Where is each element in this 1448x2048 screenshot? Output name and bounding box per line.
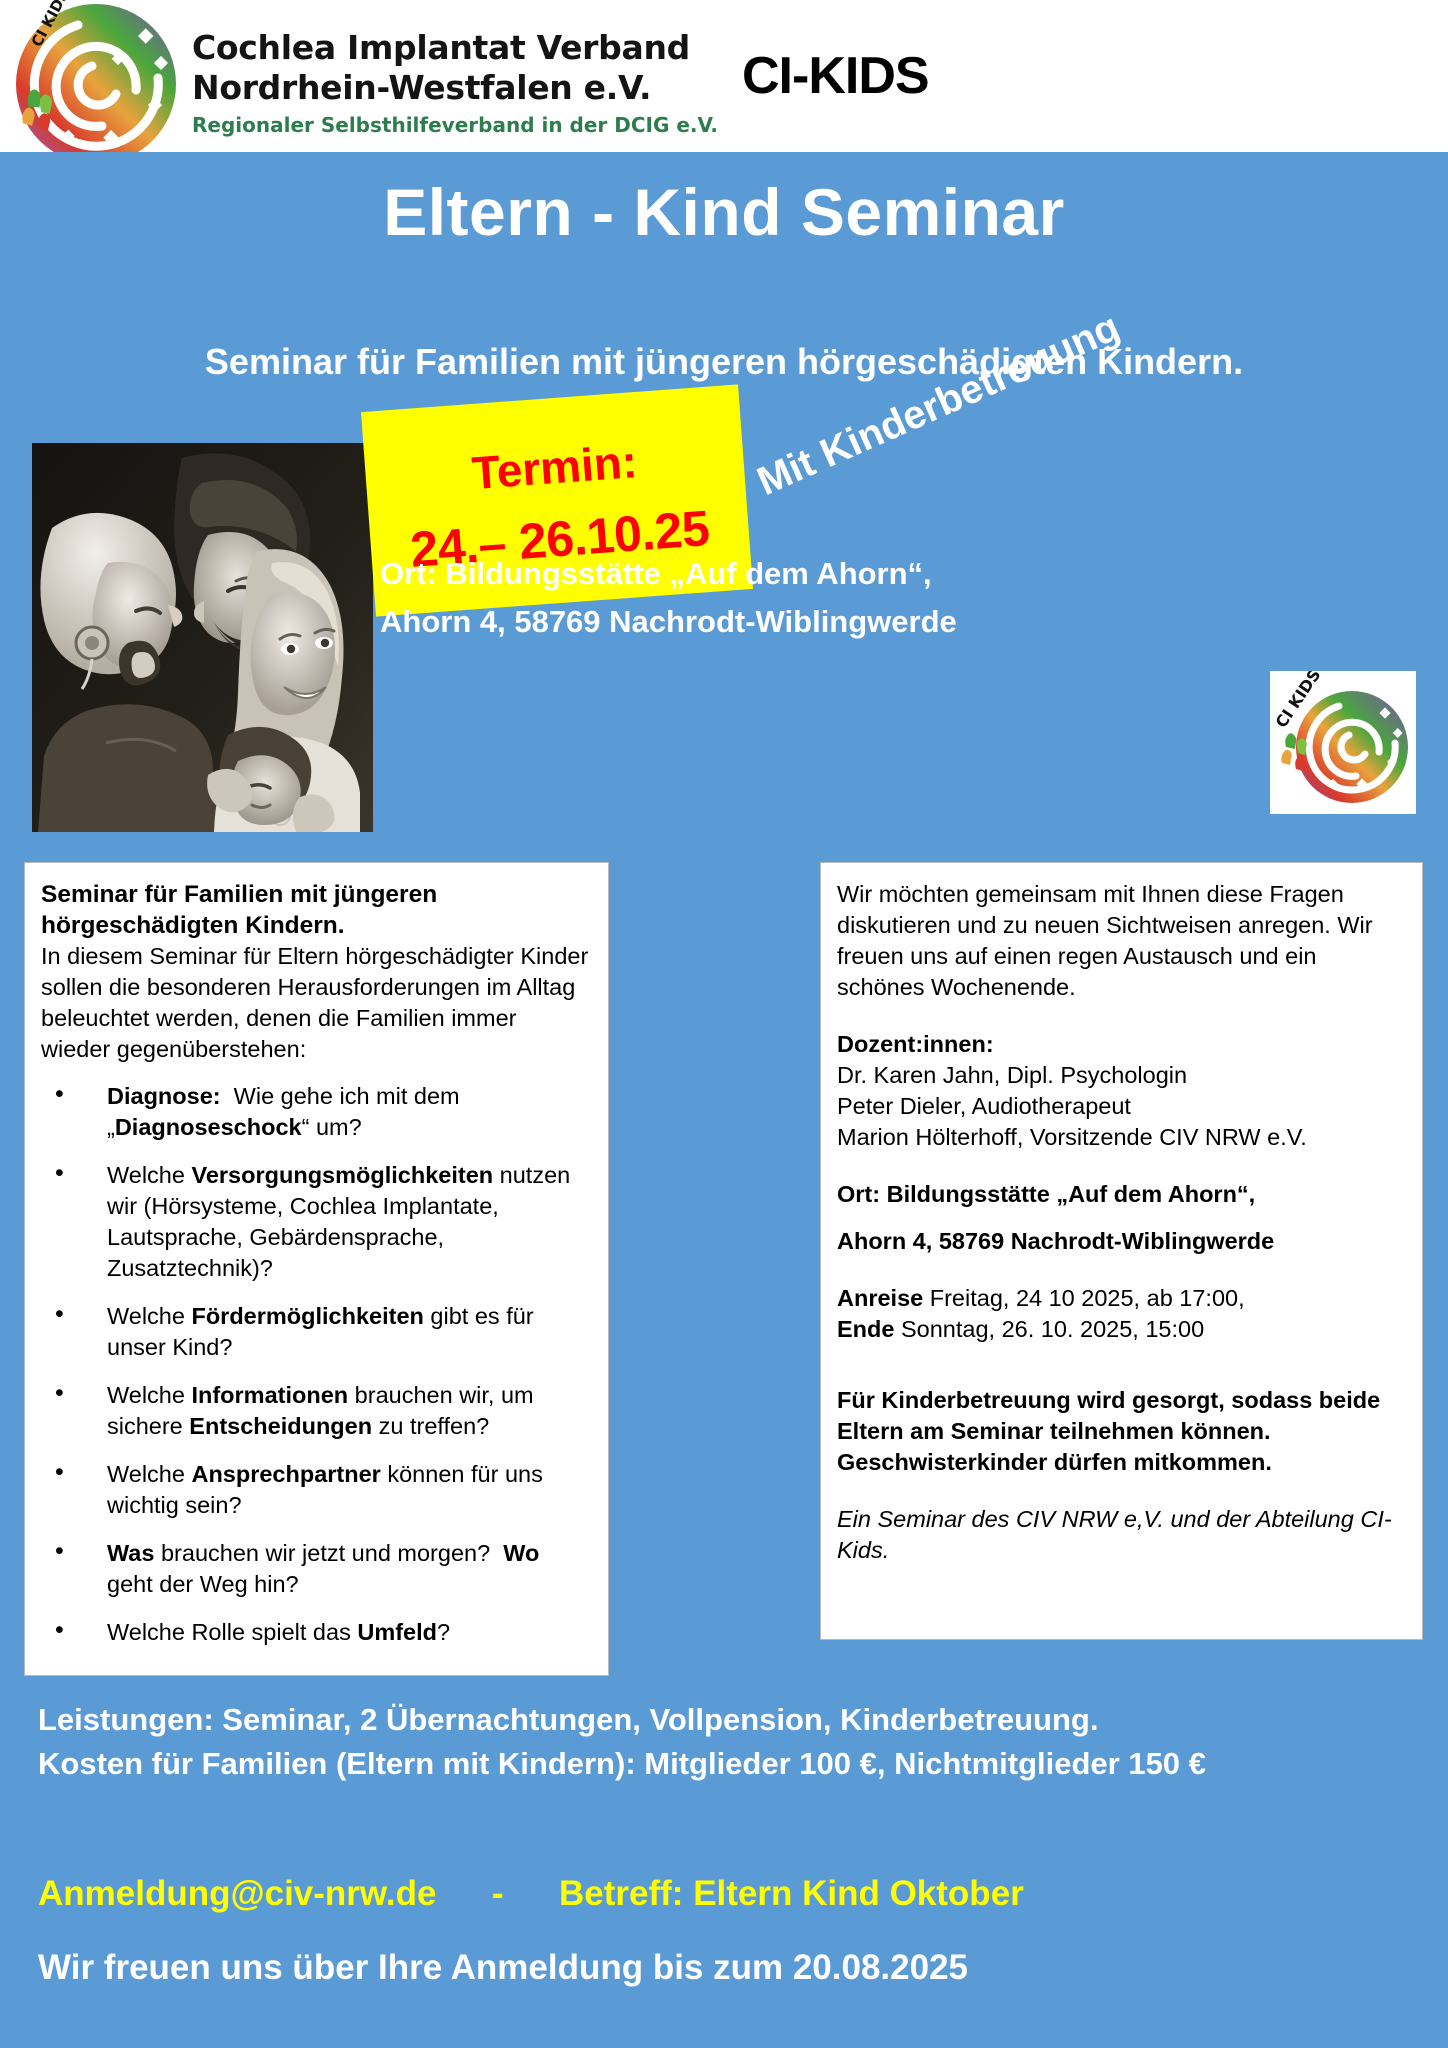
list-item: Welche Ansprechpartner können für uns wi… [41, 1459, 590, 1521]
org-subtitle: Regionaler Selbsthilfeverband in der DCI… [192, 112, 812, 138]
anreise-line: Anreise Freitag, 24 10 2025, ab 17:00, [837, 1283, 1404, 1314]
right-column-intro: Wir möchten gemeinsam mit Ihnen diese Fr… [837, 879, 1404, 1003]
right-location-line-1: Ort: Bildungsstätte „Auf dem Ahorn“, [837, 1179, 1404, 1210]
left-column-intro: In diesem Seminar für Eltern hörgeschädi… [41, 941, 590, 1065]
list-item: Diagnose: Wie gehe ich mit dem „Diagnose… [41, 1081, 590, 1143]
seminar-poster: CI KIDS Cochlea Implantat Verband Nordrh… [0, 0, 1448, 2048]
poster-header: CI KIDS Cochlea Implantat Verband Nordrh… [0, 0, 1448, 152]
family-photo [32, 443, 373, 832]
anmeldung-email[interactable]: Anmeldung@civ-nrw.de [38, 1874, 436, 1913]
kinderbetreuung-note: Für Kinderbetreuung wird gesorgt, sodass… [837, 1385, 1404, 1478]
hero-location-line-1: Ort: Bildungsstätte „Auf dem Ahorn“, [380, 550, 1280, 598]
termin-label: Termin: [364, 426, 745, 508]
betreff-text: Betreff: Eltern Kind Oktober [559, 1874, 1024, 1913]
dash-separator: - [492, 1874, 504, 1913]
ende-line: Ende Sonntag, 26. 10. 2025, 15:00 [837, 1314, 1404, 1345]
left-column-heading: Seminar für Familien mit jüngeren hörges… [41, 879, 590, 941]
hero-location: Ort: Bildungsstätte „Auf dem Ahorn“, Aho… [380, 550, 1280, 646]
ci-kids-brand: CI-KIDS [742, 46, 929, 106]
civ-nrw-logo-icon: CI KIDS [6, 0, 186, 152]
left-text-column: Seminar für Familien mit jüngeren hörges… [24, 862, 609, 1676]
kosten-line: Kosten für Familien (Eltern mit Kindern)… [38, 1742, 1408, 1786]
leistungen-line: Leistungen: Seminar, 2 Übernachtungen, V… [38, 1698, 1408, 1742]
list-item: Welche Rolle spielt das Umfeld? [41, 1617, 590, 1648]
footer-contact: Anmeldung@civ-nrw.de - Betreff: Eltern K… [38, 1866, 1408, 1922]
anmeldung-deadline: Wir freuen uns über Ihre Anmeldung bis z… [38, 1943, 968, 1993]
dozent-entry: Marion Hölterhoff, Vorsitzende CIV NRW e… [837, 1122, 1404, 1153]
org-line-2: Nordrhein-Westfalen e.V. [192, 68, 812, 108]
list-item: Welche Versorgungsmöglichkeiten nutzen w… [41, 1160, 590, 1284]
dozent-entry: Dr. Karen Jahn, Dipl. Psychologin [837, 1060, 1404, 1091]
list-item: Welche Fördermöglichkeiten gibt es für u… [41, 1301, 590, 1363]
page-title: Eltern - Kind Seminar [0, 173, 1448, 251]
org-line-1: Cochlea Implantat Verband [192, 28, 812, 68]
right-text-column: Wir möchten gemeinsam mit Ihnen diese Fr… [820, 862, 1423, 1640]
kinderbetreuung-badge: Mit Kinderbetreuung [751, 277, 1190, 505]
hero-location-line-2: Ahorn 4, 58769 Nachrodt-Wiblingwerde [380, 598, 1280, 646]
list-item: Welche Informationen brauchen wir, um si… [41, 1380, 590, 1442]
footer-details: Leistungen: Seminar, 2 Übernachtungen, V… [38, 1698, 1408, 1786]
organisation-name: Cochlea Implantat Verband Nordrhein-West… [192, 28, 812, 138]
dozent-entry: Peter Dieler, Audiotherapeut [837, 1091, 1404, 1122]
dozenten-heading: Dozent:innen: [837, 1029, 1404, 1060]
ci-kids-logo-icon: CI KIDS [1270, 671, 1416, 814]
seminar-questions-list: Diagnose: Wie gehe ich mit dem „Diagnose… [41, 1081, 590, 1648]
list-item: Was brauchen wir jetzt und morgen? Wo ge… [41, 1538, 590, 1600]
veranstalter-note: Ein Seminar des CIV NRW e,V. und der Abt… [837, 1504, 1404, 1566]
page-subtitle: Seminar für Familien mit jüngeren hörges… [0, 340, 1448, 384]
right-location-line-2: Ahorn 4, 58769 Nachrodt-Wiblingwerde [837, 1226, 1404, 1257]
